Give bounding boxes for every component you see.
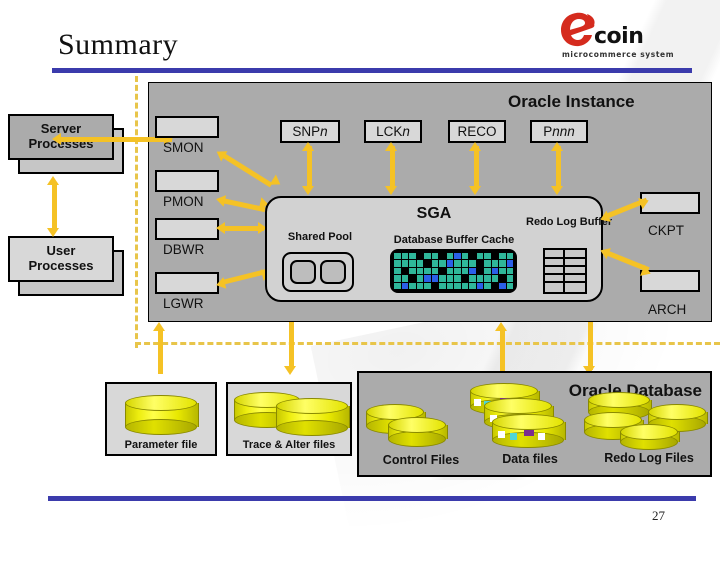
buffer-cache-grid-icon: [390, 249, 517, 293]
buffer-cache-cell: [417, 283, 424, 289]
controlfile-arrowhead-up: [495, 322, 507, 331]
process-label-ckpt: CKPT: [648, 223, 684, 238]
buffer-cache-cell: [507, 283, 514, 289]
buffer-cache-cell: [462, 275, 469, 281]
buffer-cache-cell: [469, 253, 476, 259]
buffer-cache-cell: [454, 253, 461, 259]
buffer-cache-cell: [424, 283, 431, 289]
buffer-cache-cell: [424, 260, 431, 266]
datafile-connector: [588, 322, 593, 370]
footer-divider: [48, 496, 696, 501]
user-server-arrowhead-up: [47, 176, 59, 185]
buffer-cache-cell: [469, 260, 476, 266]
control-files-label: Control Files: [362, 453, 480, 467]
buffer-cache-cell: [432, 268, 439, 274]
buffer-cache-cell: [417, 260, 424, 266]
buffer-cache-cell: [454, 275, 461, 281]
controlfile-connector: [500, 330, 505, 372]
buffer-cache-cell: [484, 268, 491, 274]
shared-pool-label: Shared Pool: [284, 231, 356, 244]
redo-log-files-label: Redo Log Files: [584, 451, 714, 465]
buffer-cache-cell: [447, 275, 454, 281]
process-label-reco: RECO: [457, 124, 496, 139]
buffer-cache-cell: [499, 275, 506, 281]
buffer-cache-cell: [439, 275, 446, 281]
buffer-cache-cell: [432, 253, 439, 259]
buffer-cache-cell: [409, 275, 416, 281]
process-box-lckn[interactable]: LCKn: [364, 120, 422, 143]
buffer-cache-cell: [477, 283, 484, 289]
reco-to-sga-connector: [474, 146, 479, 188]
user-processes-box: User Processes: [8, 236, 114, 282]
buffer-cache-cell: [432, 260, 439, 266]
buffer-cache-cell: [484, 275, 491, 281]
buffer-cache-cell: [439, 253, 446, 259]
database-buffer-cache-label: Database Buffer Cache: [386, 234, 522, 247]
buffer-cache-cell: [402, 275, 409, 281]
snpn-arrowhead-down: [302, 186, 314, 195]
shared-pool-icon: [282, 252, 354, 292]
buffer-cache-cell: [469, 283, 476, 289]
page-number: 27: [652, 508, 665, 524]
buffer-cache-cell: [462, 268, 469, 274]
server-to-instance-arrowhead-left: [52, 133, 61, 145]
buffer-cache-cell: [424, 275, 431, 281]
buffer-cache-cell: [492, 283, 499, 289]
buffer-cache-cell: [402, 253, 409, 259]
buffer-cache-cell: [477, 253, 484, 259]
buffer-cache-cell: [417, 253, 424, 259]
server-processes-stack[interactable]: Server Processes: [8, 114, 132, 176]
buffer-cache-cell: [394, 268, 401, 274]
buffer-cache-cell: [439, 268, 446, 274]
lckn-arrowhead-down: [385, 186, 397, 195]
buffer-cache-cell: [417, 268, 424, 274]
buffer-cache-cell: [454, 283, 461, 289]
buffer-cache-cell: [454, 260, 461, 266]
instance-boundary-dashed-horizontal: [135, 342, 720, 345]
buffer-cache-cell: [402, 260, 409, 266]
buffer-cache-cell: [432, 283, 439, 289]
buffer-cache-cell: [492, 253, 499, 259]
process-label-arch: ARCH: [648, 302, 686, 317]
buffer-cache-cell: [409, 253, 416, 259]
trace-alter-files-label: Trace & Alter files: [226, 439, 352, 451]
process-label-lckn: LCK: [376, 124, 402, 139]
process-box-smon[interactable]: [155, 116, 219, 138]
buffer-cache-cell: [417, 275, 424, 281]
process-box-lgwr[interactable]: [155, 272, 219, 294]
process-label-pnnn: P: [543, 124, 552, 139]
user-server-arrowhead-down: [47, 228, 59, 237]
process-label-smon: SMON: [163, 140, 204, 155]
buffer-cache-cell: [492, 275, 499, 281]
buffer-cache-cell: [409, 260, 416, 266]
user-processes-label-line1: User: [47, 243, 76, 258]
buffer-cache-cell: [462, 283, 469, 289]
process-label-snpn: SNP: [292, 124, 320, 139]
buffer-cache-cell: [507, 275, 514, 281]
buffer-cache-cell: [424, 253, 431, 259]
buffer-cache-cell: [499, 283, 506, 289]
process-box-pnnn[interactable]: Pnnn: [530, 120, 588, 143]
dbwr-to-sga-arrowhead-left: [216, 222, 225, 234]
buffer-cache-cell: [477, 260, 484, 266]
buffer-cache-cell: [409, 268, 416, 274]
buffer-cache-cell: [432, 275, 439, 281]
process-box-dbwr[interactable]: [155, 218, 219, 240]
trace-file-connector: [289, 322, 294, 368]
control-files-cylinder-front: [388, 417, 446, 447]
process-label-lckn-suffix: n: [402, 124, 410, 139]
param-file-arrowhead-up: [153, 322, 165, 331]
ecoin-logo: coin microcommerce system: [558, 12, 708, 64]
title-divider: [52, 68, 692, 73]
buffer-cache-cell: [507, 253, 514, 259]
lckn-to-sga-connector: [390, 146, 395, 188]
buffer-cache-cell: [394, 253, 401, 259]
double-cylinder-icon-front: [276, 398, 348, 436]
buffer-cache-cell: [507, 260, 514, 266]
buffer-cache-cell: [469, 268, 476, 274]
user-processes-stack[interactable]: User Processes: [8, 236, 132, 298]
buffer-cache-cell: [469, 275, 476, 281]
process-label-lgwr: LGWR: [163, 296, 204, 311]
pnnn-arrowhead-up: [551, 142, 563, 151]
buffer-cache-cell: [484, 253, 491, 259]
param-file-connector: [158, 330, 163, 374]
redo-log-files-cylinder-4: [620, 424, 678, 450]
snpn-to-sga-connector: [307, 146, 312, 188]
process-label-snpn-suffix: n: [320, 124, 328, 139]
buffer-cache-cell: [507, 268, 514, 274]
buffer-cache-cell: [499, 260, 506, 266]
buffer-cache-cell: [447, 268, 454, 274]
pnnn-arrowhead-down: [551, 186, 563, 195]
trace-file-arrowhead-down: [284, 366, 296, 375]
buffer-cache-cell: [447, 253, 454, 259]
process-label-pmon: PMON: [163, 194, 204, 209]
redo-log-grid-icon: [543, 248, 587, 294]
shared-pool-segment-left: [290, 260, 316, 284]
process-label-pnnn-suffix: nnn: [552, 124, 575, 139]
buffer-cache-cell: [499, 253, 506, 259]
lckn-arrowhead-up: [385, 142, 397, 151]
parameter-file-label: Parameter file: [105, 439, 217, 451]
process-box-reco[interactable]: RECO: [448, 120, 506, 143]
shared-pool-segment-right: [320, 260, 346, 284]
page-title: Summary: [58, 28, 178, 62]
buffer-cache-cell: [402, 268, 409, 274]
buffer-cache-cell: [447, 283, 454, 289]
process-box-snpn[interactable]: SNPn: [280, 120, 340, 143]
instance-boundary-dashed-vertical: [135, 76, 138, 348]
buffer-cache-cell: [484, 283, 491, 289]
data-files-cylinder-bottom: [492, 414, 564, 448]
process-label-dbwr: DBWR: [163, 242, 204, 257]
pnnn-to-sga-connector: [556, 146, 561, 188]
user-server-connector: [52, 182, 57, 230]
logo-tagline: microcommerce system: [562, 50, 674, 59]
buffer-cache-cell: [477, 275, 484, 281]
buffer-cache-cell: [409, 283, 416, 289]
slide-canvas: Summary coin microcommerce system Oracle…: [0, 0, 720, 540]
buffer-cache-cell: [462, 260, 469, 266]
buffer-cache-cell: [402, 283, 409, 289]
buffer-cache-cell: [439, 283, 446, 289]
redo-log-buffer-label: Redo Log Buffer: [526, 216, 604, 229]
buffer-cache-cell: [394, 283, 401, 289]
buffer-cache-cell: [394, 260, 401, 266]
buffer-cache-cell: [447, 260, 454, 266]
user-processes-label-line2: Processes: [28, 258, 93, 273]
reco-arrowhead-up: [469, 142, 481, 151]
reco-arrowhead-down: [469, 186, 481, 195]
buffer-cache-cell: [477, 268, 484, 274]
buffer-cache-cell: [499, 268, 506, 274]
buffer-cache-cell: [484, 260, 491, 266]
data-files-label: Data files: [482, 452, 578, 466]
logo-wordmark: coin: [594, 24, 643, 49]
buffer-cache-cell: [492, 260, 499, 266]
snpn-arrowhead-up: [302, 142, 314, 151]
buffer-cache-cell: [492, 268, 499, 274]
buffer-cache-cell: [462, 253, 469, 259]
oracle-instance-label: Oracle Instance: [508, 92, 635, 112]
buffer-cache-cell: [424, 268, 431, 274]
single-cylinder-icon: [125, 395, 197, 435]
buffer-cache-cell: [394, 275, 401, 281]
buffer-cache-cell: [439, 260, 446, 266]
process-box-pmon[interactable]: [155, 170, 219, 192]
buffer-cache-cell: [454, 268, 461, 274]
